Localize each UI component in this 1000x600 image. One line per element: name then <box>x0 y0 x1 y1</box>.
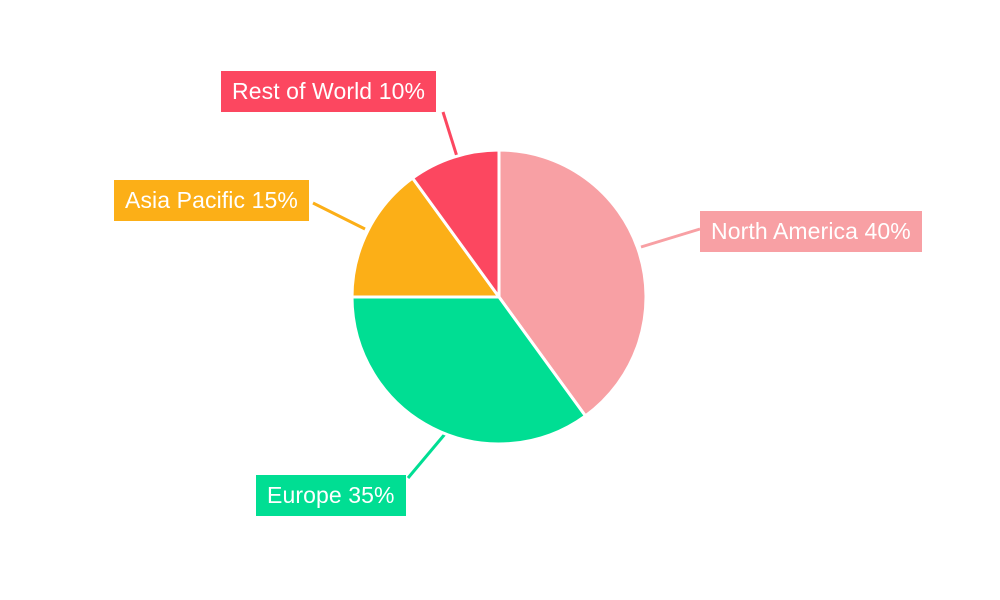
pie-slices <box>352 150 646 444</box>
pie-label-north-america-text: North America 40% <box>711 220 911 243</box>
pie-label-asia-pacific-text: Asia Pacific 15% <box>125 189 298 212</box>
pie-label-rest-of-world-text: Rest of World 10% <box>232 80 425 103</box>
leader-line-europe <box>408 428 450 478</box>
chart-canvas: Rest of World 10% Asia Pacific 15% North… <box>0 0 1000 600</box>
pie-label-asia-pacific[interactable]: Asia Pacific 15% <box>114 180 309 221</box>
leader-line-asia-pacific <box>313 203 365 229</box>
pie-label-europe[interactable]: Europe 35% <box>256 475 406 516</box>
pie-chart-figure <box>0 0 1000 600</box>
pie-label-europe-text: Europe 35% <box>267 484 395 507</box>
pie-label-north-america[interactable]: North America 40% <box>700 211 922 252</box>
pie-label-rest-of-world[interactable]: Rest of World 10% <box>221 71 436 112</box>
leader-line-north-america <box>641 229 700 247</box>
